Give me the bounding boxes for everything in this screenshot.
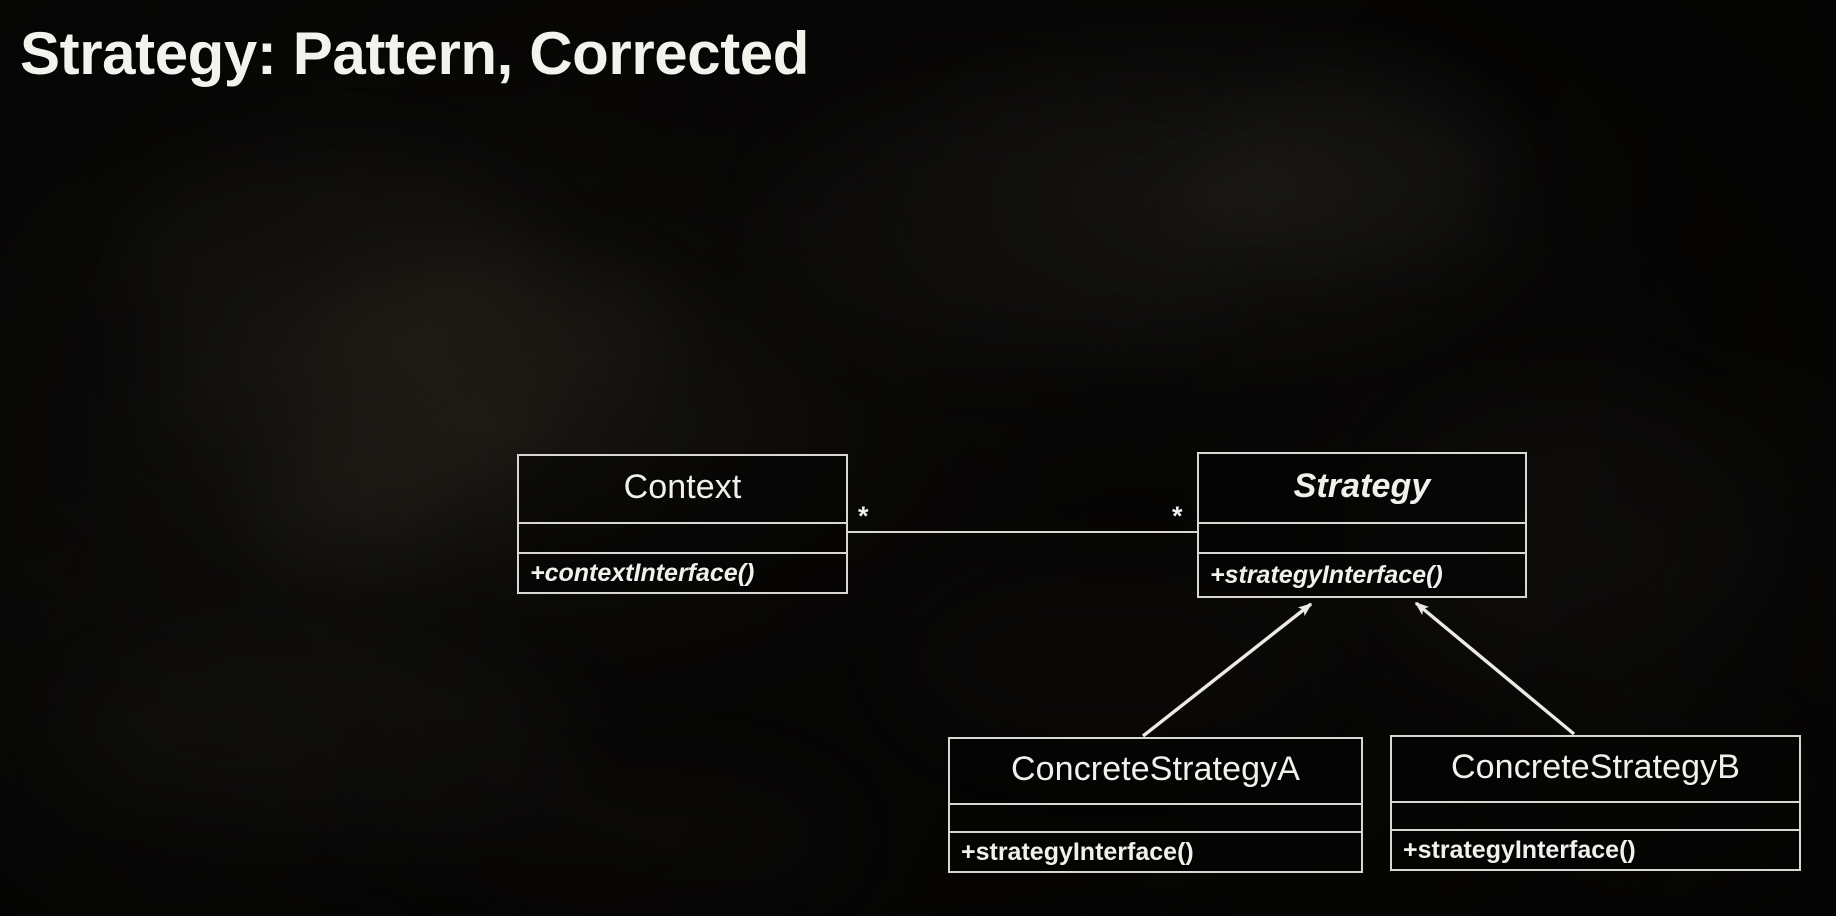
uml-class-name-context: Context xyxy=(519,456,846,522)
uml-attributes-concrete-strategy-a xyxy=(950,803,1361,831)
uml-operations-concrete-strategy-b: +strategyInterface() xyxy=(1392,829,1799,869)
multiplicity-context: * xyxy=(858,503,869,530)
uml-attributes-concrete-strategy-b xyxy=(1392,801,1799,829)
uml-operation-concrete-a-strategy-interface: +strategyInterface() xyxy=(961,838,1194,867)
uml-operation-context-interface: +contextInterface() xyxy=(530,559,754,588)
generalization-line-concrete-a xyxy=(1143,604,1311,736)
uml-operation-strategy-interface: +strategyInterface() xyxy=(1210,561,1443,590)
generalization-line-concrete-b xyxy=(1416,603,1574,734)
uml-class-context[interactable]: Context +contextInterface() xyxy=(517,454,848,594)
uml-class-concrete-strategy-a[interactable]: ConcreteStrategyA +strategyInterface() xyxy=(948,737,1363,873)
uml-attributes-strategy xyxy=(1199,522,1525,552)
uml-operations-strategy: +strategyInterface() xyxy=(1199,552,1525,596)
uml-operations-concrete-strategy-a: +strategyInterface() xyxy=(950,831,1361,871)
uml-class-name-concrete-strategy-a: ConcreteStrategyA xyxy=(950,739,1361,803)
slide-canvas: Strategy: Pattern, Corrected * * Context… xyxy=(0,0,1836,916)
uml-class-strategy[interactable]: Strategy +strategyInterface() xyxy=(1197,452,1527,598)
uml-operation-concrete-b-strategy-interface: +strategyInterface() xyxy=(1403,836,1636,865)
multiplicity-strategy: * xyxy=(1172,503,1183,530)
uml-class-name-concrete-strategy-b: ConcreteStrategyB xyxy=(1392,737,1799,801)
uml-attributes-context xyxy=(519,522,846,552)
uml-operations-context: +contextInterface() xyxy=(519,552,846,592)
uml-class-concrete-strategy-b[interactable]: ConcreteStrategyB +strategyInterface() xyxy=(1390,735,1801,871)
uml-class-diagram: * * Context +contextInterface() Strategy… xyxy=(0,0,1836,916)
uml-class-name-strategy: Strategy xyxy=(1199,454,1525,522)
association-line-context-strategy xyxy=(846,531,1199,533)
